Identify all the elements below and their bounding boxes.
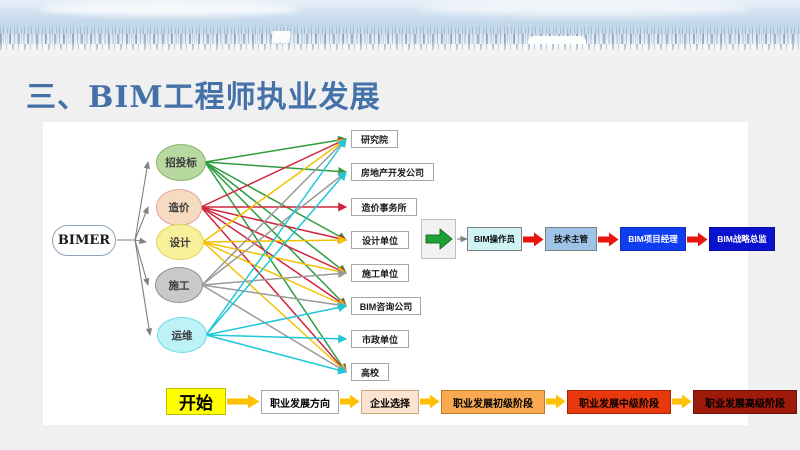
timeline-arrow-3-icon [420, 394, 440, 409]
node-employer-bimzixun[interactable]: BIM咨询公司 [351, 297, 421, 315]
timeline-step-junior-label: 职业发展初级阶段 [453, 395, 533, 410]
career-arrow-1-icon [523, 232, 544, 247]
timeline-step-company-choice-label: 企业选择 [370, 395, 410, 410]
diagram-panel: BIMER 招投标 造价 设计 施工 运维 研究院 房地产开发公司 造价事务所 … [43, 122, 748, 425]
node-direction-yunwei[interactable]: 运维 [157, 317, 207, 353]
node-direction-zhaotoubiao[interactable]: 招投标 [156, 144, 206, 181]
node-employer-shejidanwei[interactable]: 设计单位 [351, 231, 409, 249]
node-employer-yanjiuyuan[interactable]: 研究院 [351, 130, 398, 148]
node-employer-shigongdanwei[interactable]: 施工单位 [351, 264, 409, 282]
career-arrow-2-icon [598, 232, 619, 247]
node-employer-bimzixun-label: BIM咨询公司 [360, 300, 413, 313]
career-step-bim-operator[interactable]: BIM操作员 [467, 227, 522, 251]
timeline-step-senior-label: 职业发展高级阶段 [705, 395, 785, 410]
node-employer-zaojiashiwusuo[interactable]: 造价事务所 [351, 198, 417, 216]
timeline-step-start-label: 开始 [179, 389, 213, 414]
timeline-arrow-5-icon [672, 394, 692, 409]
node-direction-yunwei-label: 运维 [172, 328, 193, 343]
node-employer-fangdichan[interactable]: 房地产开发公司 [351, 163, 434, 181]
career-step-bim-project-manager[interactable]: BIM项目经理 [620, 227, 686, 251]
node-direction-shigong[interactable]: 施工 [155, 267, 203, 303]
node-employer-gaoxiao[interactable]: 高校 [351, 363, 389, 381]
timeline-step-career-direction[interactable]: 职业发展方向 [261, 390, 339, 414]
slide-canvas: 三、BIM工程师执业发展 [0, 0, 800, 450]
timeline-arrow-2-icon [340, 394, 360, 409]
node-employer-shizhengdanwei-label: 市政单位 [362, 333, 398, 346]
node-direction-sheji[interactable]: 设计 [156, 224, 204, 260]
career-step-bim-project-manager-label: BIM项目经理 [628, 233, 678, 245]
node-employer-yanjiuyuan-label: 研究院 [361, 133, 388, 146]
timeline-step-company-choice[interactable]: 企业选择 [361, 390, 419, 414]
node-employer-gaoxiao-label: 高校 [361, 366, 379, 379]
tower-spire [508, 15, 510, 37]
career-step-tech-supervisor[interactable]: 技术主管 [545, 227, 597, 251]
career-arrow-3-icon [687, 232, 708, 247]
node-employer-shejidanwei-label: 设计单位 [362, 234, 398, 247]
node-employer-shizhengdanwei[interactable]: 市政单位 [351, 330, 409, 348]
page-title: 三、BIM工程师执业发展 [26, 72, 381, 116]
green-right-arrow-icon [425, 227, 453, 251]
node-employer-shigongdanwei-label: 施工单位 [362, 267, 398, 280]
timeline-arrow-1-icon [227, 394, 260, 409]
cloud-right [420, 0, 750, 16]
timeline-step-career-direction-label: 职业发展方向 [270, 395, 330, 410]
timeline-step-start[interactable]: 开始 [166, 388, 226, 415]
timeline-step-intermediate-label: 职业发展中级阶段 [579, 395, 659, 410]
career-step-bim-strategy-director[interactable]: BIM战略总监 [709, 227, 775, 251]
node-employer-fangdichan-label: 房地产开发公司 [361, 166, 424, 179]
career-step-bim-operator-label: BIM操作员 [474, 233, 515, 245]
node-direction-shigong-label: 施工 [169, 278, 190, 293]
cloud-left [40, 2, 300, 16]
node-employer-zaojiashiwusuo-label: 造价事务所 [361, 201, 406, 214]
timeline-step-junior[interactable]: 职业发展初级阶段 [441, 390, 545, 414]
career-step-tech-supervisor-label: 技术主管 [554, 233, 588, 245]
node-bimer[interactable]: BIMER [52, 225, 116, 256]
city-skyline-banner [0, 0, 800, 57]
node-direction-zhaotoubiao-label: 招投标 [165, 155, 197, 170]
node-direction-sheji-label: 设计 [170, 235, 191, 250]
white-building-left [271, 31, 290, 43]
node-direction-zaojia-label: 造价 [169, 200, 190, 215]
timeline-arrow-4-icon [546, 394, 566, 409]
node-direction-zaojia[interactable]: 造价 [156, 189, 202, 226]
career-step-bim-strategy-director-label: BIM战略总监 [717, 233, 767, 245]
timeline-step-intermediate[interactable]: 职业发展中级阶段 [567, 390, 671, 414]
timeline-step-senior[interactable]: 职业发展高级阶段 [693, 390, 797, 414]
banner-fade [0, 43, 800, 57]
transition-arrow-box [421, 219, 456, 259]
